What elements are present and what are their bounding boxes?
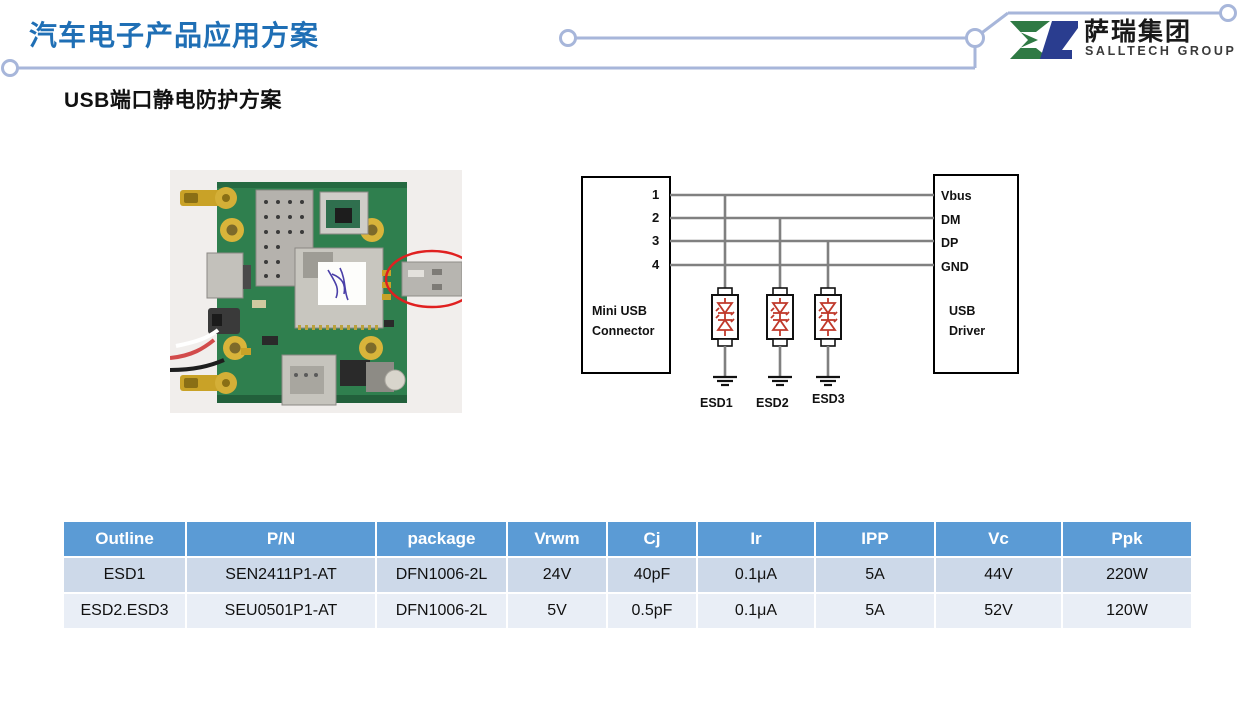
pin-label-4: 4 xyxy=(652,257,659,272)
section-subtitle: USB端口静电防护方案 xyxy=(64,84,282,114)
signal-label-gnd: GND xyxy=(941,260,969,274)
col-header-package: package xyxy=(376,522,507,557)
ground-symbol-2 xyxy=(768,377,792,385)
cell-vrwm: 5V xyxy=(507,593,607,629)
cell-package: DFN1006-2L xyxy=(376,593,507,629)
ground-symbol-3 xyxy=(816,377,840,385)
device-label-esd2: ESD2 xyxy=(756,396,789,410)
cell-package: DFN1006-2L xyxy=(376,557,507,593)
salltech-logo-mark xyxy=(1006,15,1082,63)
usb-driver-box xyxy=(934,175,1018,373)
decoration-circle-mid xyxy=(561,31,576,46)
cell-outline: ESD2.ESD3 xyxy=(64,593,186,629)
device-label-esd1: ESD1 xyxy=(700,396,733,410)
spec-table: Outline P/N package Vrwm Cj Ir IPP Vc Pp… xyxy=(64,522,1191,630)
cell-pn: SEN2411P1-AT xyxy=(186,557,376,593)
signal-label-vbus: Vbus xyxy=(941,189,972,203)
table-row: ESD1 SEN2411P1-AT DFN1006-2L 24V 40pF 0.… xyxy=(64,557,1191,593)
cell-pn: SEU0501P1-AT xyxy=(186,593,376,629)
cell-cj: 0.5pF xyxy=(607,593,697,629)
cell-outline: ESD1 xyxy=(64,557,186,593)
decoration-circle-left xyxy=(3,61,18,76)
brand-name-en: SALLTECH GROUP xyxy=(1085,44,1236,58)
cell-cj: 40pF xyxy=(607,557,697,593)
ground-symbol-1 xyxy=(713,377,737,385)
col-header-ppk: Ppk xyxy=(1062,522,1191,557)
device-label-esd3: ESD3 xyxy=(812,392,845,406)
pcb-board-photo xyxy=(170,170,462,413)
esd1-device xyxy=(712,288,738,385)
table-row: ESD2.ESD3 SEU0501P1-AT DFN1006-2L 5V 0.5… xyxy=(64,593,1191,629)
pin-label-3: 3 xyxy=(652,233,659,248)
brand-name-cn: 萨瑞集团 xyxy=(1084,12,1192,48)
cell-vrwm: 24V xyxy=(507,557,607,593)
cell-ir: 0.1μA xyxy=(697,557,815,593)
table-header-row: Outline P/N package Vrwm Cj Ir IPP Vc Pp… xyxy=(64,522,1191,557)
driver-label-line1: USB xyxy=(949,304,975,318)
cell-ipp: 5A xyxy=(815,593,935,629)
signal-label-dm: DM xyxy=(941,213,960,227)
slide-root: 汽车电子产品应用方案 USB端口静电防护方案 萨瑞集团 SALLTECH GRO… xyxy=(0,0,1255,706)
cell-ppk: 120W xyxy=(1062,593,1191,629)
connector-label-line1: Mini USB xyxy=(592,304,647,318)
col-header-pn: P/N xyxy=(186,522,376,557)
signal-label-dp: DP xyxy=(941,236,958,250)
pin-label-2: 2 xyxy=(652,210,659,225)
cell-ir: 0.1μA xyxy=(697,593,815,629)
cell-vc: 44V xyxy=(935,557,1062,593)
usb-esd-circuit-diagram xyxy=(570,165,1050,420)
col-header-vc: Vc xyxy=(935,522,1062,557)
esd3-device xyxy=(815,288,841,385)
col-header-outline: Outline xyxy=(64,522,186,557)
mini-usb-connector-box xyxy=(582,177,670,373)
col-header-ipp: IPP xyxy=(815,522,935,557)
connector-label-line2: Connector xyxy=(592,324,655,338)
cell-ppk: 220W xyxy=(1062,557,1191,593)
cell-vc: 52V xyxy=(935,593,1062,629)
cell-ipp: 5A xyxy=(815,557,935,593)
col-header-cj: Cj xyxy=(607,522,697,557)
pin-label-1: 1 xyxy=(652,187,659,202)
col-header-vrwm: Vrwm xyxy=(507,522,607,557)
col-header-ir: Ir xyxy=(697,522,815,557)
brand-logo: 萨瑞集团 SALLTECH GROUP xyxy=(1006,14,1246,64)
page-title: 汽车电子产品应用方案 xyxy=(29,14,319,54)
decoration-circle-junction xyxy=(967,30,984,47)
esd2-device xyxy=(767,288,793,385)
driver-label-line2: Driver xyxy=(949,324,985,338)
